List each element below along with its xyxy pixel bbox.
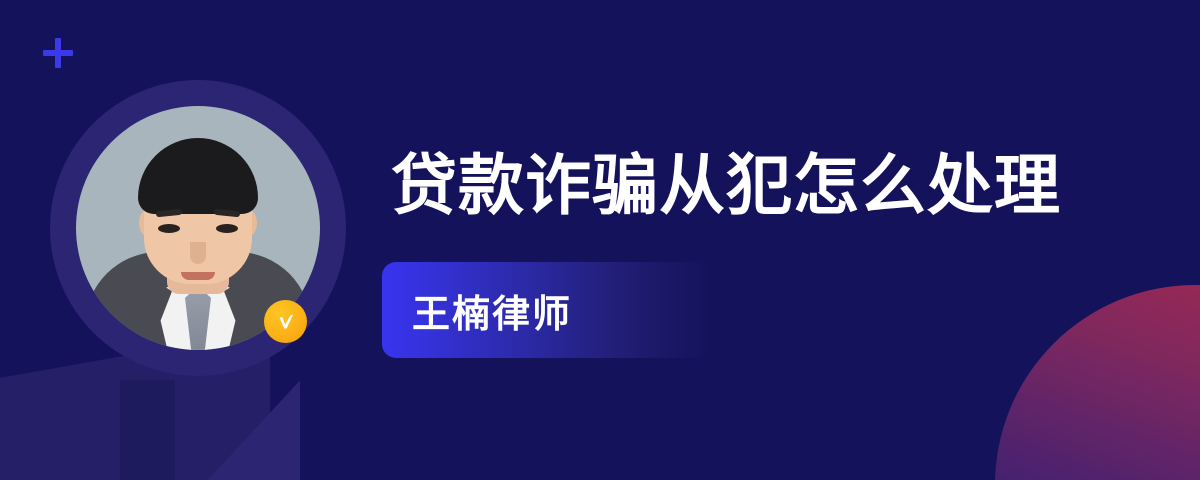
plus-icon (43, 38, 73, 68)
lawyer-banner: 贷款诈骗从犯怎么处理 王楠律师 (0, 0, 1200, 480)
portrait-eye-left (158, 224, 180, 233)
portrait-eye-right (216, 224, 238, 233)
plus-icon-vertical-bar (55, 38, 61, 68)
verified-check-icon (264, 300, 307, 343)
polygon-shape-left-wedge (150, 370, 300, 480)
decorative-circle-blob (995, 285, 1200, 480)
polygon-shape-left-small (120, 380, 175, 480)
portrait-mouth (181, 272, 215, 280)
lawyer-name-chip[interactable]: 王楠律师 (382, 262, 712, 358)
lawyer-name-label: 王楠律师 (412, 283, 572, 338)
portrait-nose (190, 242, 206, 264)
decorative-wedge-blob (1060, 360, 1200, 480)
portrait-hair (138, 138, 258, 214)
page-title: 贷款诈骗从犯怎么处理 (391, 152, 1061, 218)
